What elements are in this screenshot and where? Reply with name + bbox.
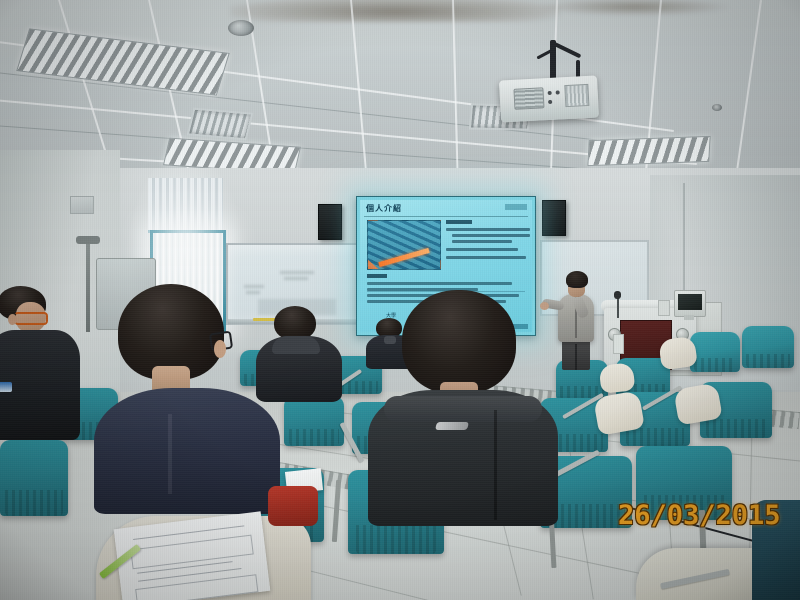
slide-right-text-block: [446, 220, 532, 262]
ceiling-grid-cross: [452, 0, 459, 196]
presenter-glasses-icon: [568, 286, 583, 290]
wall-switch-panel: [613, 334, 624, 354]
monitor-stand: [684, 315, 694, 320]
hoodie-hood: [272, 336, 320, 354]
student-hair: [274, 306, 316, 340]
equipment-stand-head: [76, 236, 100, 244]
chair-tablet-arm[interactable]: [599, 362, 636, 393]
tshirt-seam: [168, 414, 172, 494]
projector-led-icon: [548, 100, 552, 104]
slide-embedded-photo: [367, 220, 441, 270]
jacket-hood-fold: [384, 396, 542, 422]
desk-microphone-icon: [614, 291, 621, 299]
student-tshirt: [94, 388, 280, 514]
chair[interactable]: [284, 396, 344, 446]
whiteboard-marking: [284, 277, 308, 280]
jacket-seam: [494, 410, 497, 520]
vertical-blinds-icon: [148, 178, 223, 233]
slide-text-line: [446, 256, 526, 259]
monitor-screen: [678, 294, 702, 310]
slide-text-line: [452, 240, 512, 243]
whiteboard-marking: [280, 271, 314, 274]
whiteboard-marking: [246, 291, 260, 294]
slide-corner-tag: [505, 204, 527, 210]
red-bag: [268, 486, 318, 526]
chair[interactable]: [690, 332, 740, 372]
presenter-hand: [540, 302, 549, 310]
equipment-small-box: [658, 300, 670, 316]
slide-text-line: [446, 228, 530, 231]
camera-date-stamp: 26/03/2015: [618, 500, 781, 531]
projector-led-icon: [556, 90, 560, 94]
projector-led-icon: [548, 91, 552, 95]
slide-bullet-line: [367, 282, 512, 285]
slide-arrow-annotation: [378, 248, 429, 267]
slide-lower-heading: [367, 274, 387, 278]
jacket-logo: [435, 422, 469, 430]
presenter-leg-gap: [575, 344, 577, 370]
projector-body: [499, 75, 599, 122]
desk-microphone-stand: [617, 296, 619, 318]
slide-text-heading: [446, 220, 472, 224]
projector-vent-icon: [564, 84, 589, 107]
smoke-detector-icon: [228, 20, 254, 36]
smoke-detector-icon: [712, 104, 722, 111]
student-collar: [384, 336, 396, 344]
slide-title: 個人介紹: [366, 203, 402, 214]
student-jacket: [0, 330, 80, 440]
chair[interactable]: [0, 440, 68, 516]
wall-speaker-right: [542, 200, 566, 236]
student-jacket-patch: [0, 382, 12, 392]
chair-tablet-arm[interactable]: [658, 336, 698, 371]
student-glasses-icon: [14, 312, 48, 325]
whiteboard-marking: [244, 285, 264, 288]
student-ear: [214, 340, 226, 358]
paper-form-box: [130, 535, 254, 570]
ceiling-light-fixture: [587, 136, 710, 166]
lecture-hall-photograph: 個人介紹 資訊 工程系: [0, 0, 800, 600]
projector-lens-icon: [513, 87, 544, 110]
slide-text-line: [452, 234, 530, 237]
ceiling-grid-cross: [734, 0, 762, 184]
student-ear: [8, 314, 17, 325]
slide-text-line: [446, 248, 518, 251]
chair[interactable]: [742, 326, 794, 368]
wall-speaker-left: [318, 204, 342, 240]
ceiling-water-stain: [230, 0, 560, 22]
equipment-stand: [86, 240, 90, 332]
crt-monitor: [674, 290, 706, 317]
wall-mounted-bracket: [70, 196, 94, 214]
ceiling-air-vent: [187, 108, 254, 141]
student-hair: [402, 290, 516, 394]
ceiling-water-stain-secondary: [540, 0, 730, 16]
